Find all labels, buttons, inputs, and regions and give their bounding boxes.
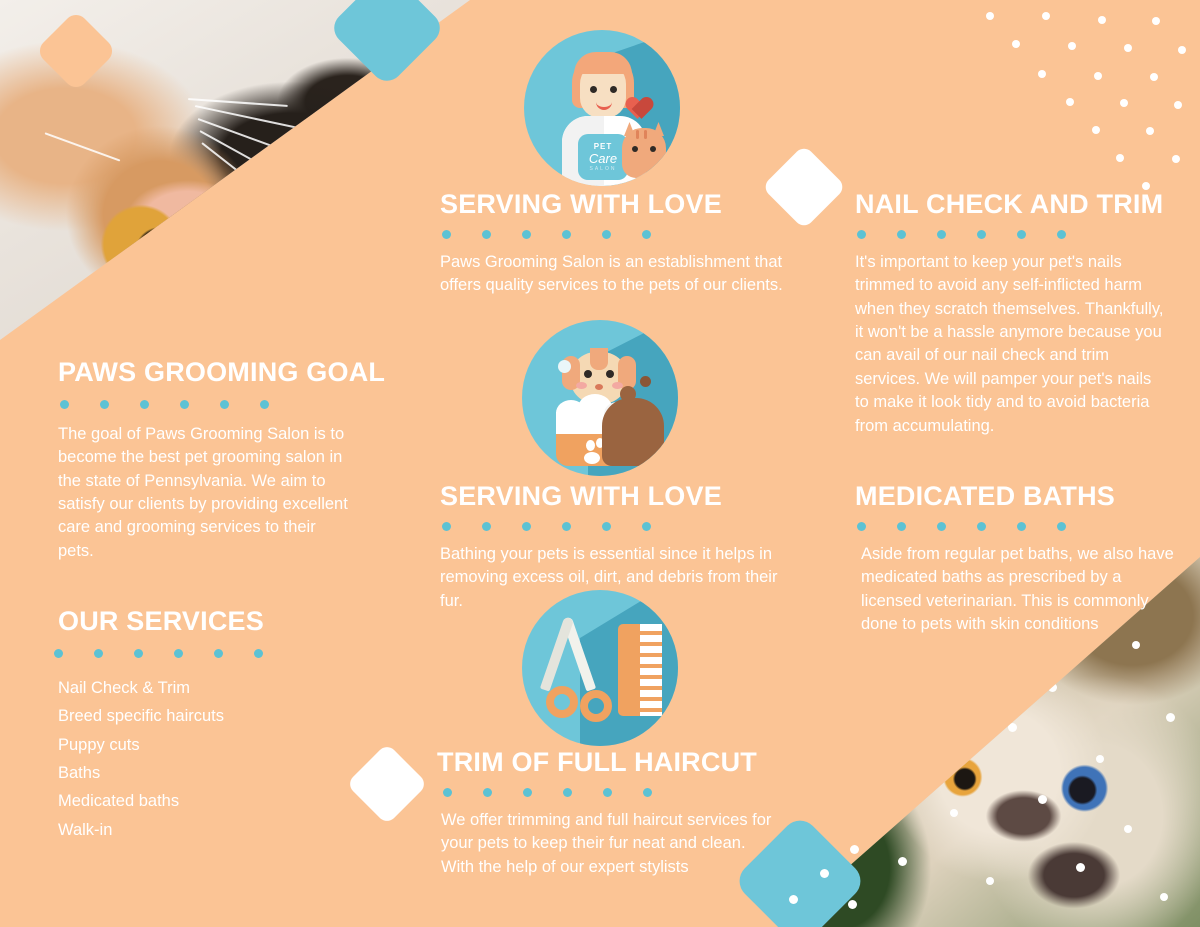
services-title: OUR SERVICES — [58, 607, 388, 637]
goal-body: The goal of Paws Grooming Salon is to be… — [58, 423, 354, 564]
list-item: Walk-in — [58, 816, 388, 844]
dog-in-bathtub-icon — [522, 320, 678, 476]
middle-section-1: SERVING WITH LOVE Paws Grooming Salon is… — [440, 190, 786, 298]
section-body: It's important to keep your pet's nails … — [855, 251, 1167, 438]
heart-icon — [628, 92, 654, 118]
divider-dots — [857, 230, 1175, 239]
divider-dots — [442, 522, 786, 531]
scissors-and-comb-icon — [522, 590, 678, 746]
groomer-with-cat-icon: PET Care SALON — [524, 30, 680, 186]
services-section: OUR SERVICES Nail Check & Trim Breed spe… — [58, 607, 388, 844]
section-title: SERVING WITH LOVE — [440, 190, 786, 220]
logo-text-top: PET — [594, 143, 613, 151]
services-list: Nail Check & Trim Breed specific haircut… — [58, 674, 388, 844]
section-title: MEDICATED BATHS — [855, 482, 1185, 512]
right-section-medicated: MEDICATED BATHS Aside from regular pet b… — [855, 482, 1185, 636]
right-section-nail: NAIL CHECK AND TRIM It's important to ke… — [855, 190, 1175, 438]
section-title: NAIL CHECK AND TRIM — [855, 190, 1175, 220]
section-body: Paws Grooming Salon is an establishment … — [440, 251, 786, 298]
divider-dots — [54, 649, 388, 658]
middle-section-3: TRIM OF FULL HAIRCUT We offer trimming a… — [437, 748, 783, 879]
divider-dots — [857, 522, 1185, 531]
list-item: Baths — [58, 759, 388, 787]
list-item: Breed specific haircuts — [58, 702, 388, 730]
decor-dot-field — [970, 0, 1200, 200]
goal-section: PAWS GROOMING GOAL The goal of Paws Groo… — [58, 358, 388, 563]
section-title: TRIM OF FULL HAIRCUT — [437, 748, 783, 778]
logo-text-mid: Care — [589, 152, 617, 165]
divider-dots — [442, 230, 786, 239]
list-item: Medicated baths — [58, 787, 388, 815]
list-item: Puppy cuts — [58, 731, 388, 759]
left-column: PAWS GROOMING GOAL The goal of Paws Groo… — [58, 358, 388, 844]
divider-dots — [443, 788, 783, 797]
section-body: We offer trimming and full haircut servi… — [441, 809, 783, 879]
logo-text-bottom: SALON — [590, 167, 617, 172]
brochure-page: PAWS GROOMING GOAL The goal of Paws Groo… — [0, 0, 1200, 927]
list-item: Nail Check & Trim — [58, 674, 388, 702]
section-body: Aside from regular pet baths, we also ha… — [861, 543, 1183, 637]
divider-dots — [60, 400, 388, 409]
section-title: SERVING WITH LOVE — [440, 482, 786, 512]
goal-title: PAWS GROOMING GOAL — [58, 358, 388, 388]
